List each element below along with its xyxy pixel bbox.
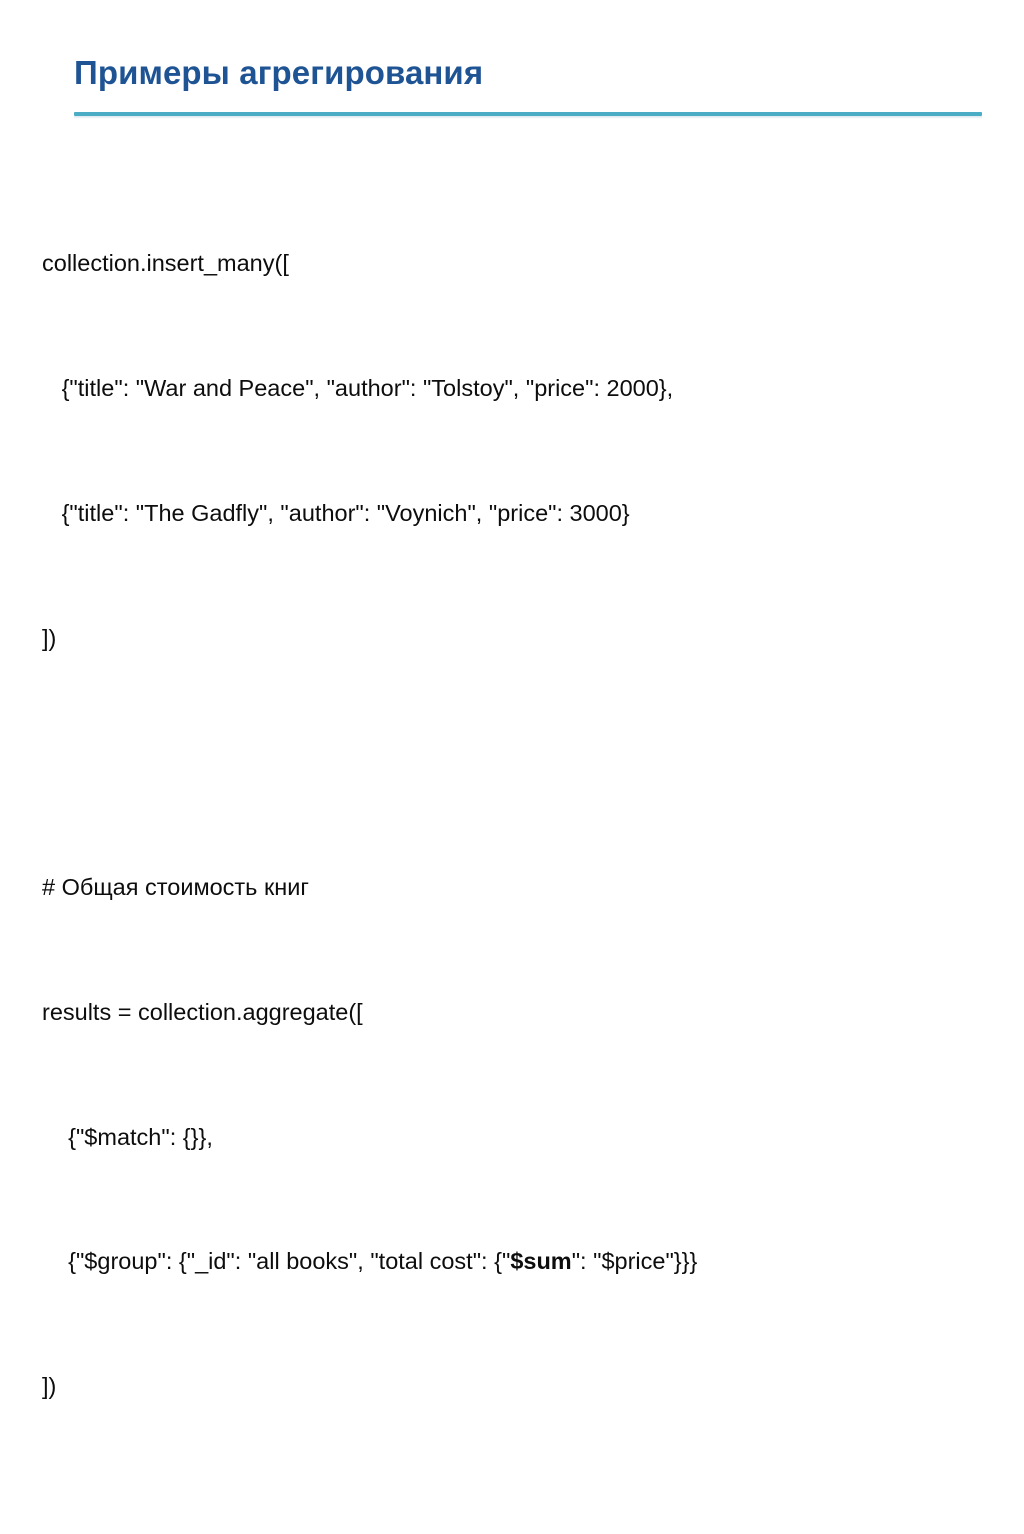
code-line-aggregate: results = collection.aggregate([ (42, 992, 1002, 1034)
code-line-insert-many: collection.insert_many([ (42, 243, 1002, 285)
slide: Примеры агрегирования collection.insert_… (0, 0, 1024, 767)
code-line-close-aggregate: ]) (42, 1366, 1002, 1408)
code-line-doc-the-gadfly: {"title": "The Gadfly", "author": "Voyni… (42, 493, 1002, 535)
page-title: Примеры агрегирования (74, 54, 483, 92)
code-line-doc-war-and-peace: {"title": "War and Peace", "author": "To… (42, 368, 1002, 410)
group-stage-prefix: {"$group": {"_id": "all books", "total c… (42, 1248, 510, 1274)
code-line-comment-total-cost: # Общая стоимость книг (42, 867, 1002, 909)
code-line-blank-2 (42, 1491, 1002, 1533)
code-line-blank-1 (42, 742, 1002, 784)
code-line-match-stage: {"$match": {}}, (42, 1117, 1002, 1159)
code-line-close-insert: ]) (42, 618, 1002, 660)
group-stage-sum-operator: $sum (510, 1248, 571, 1274)
group-stage-suffix: ": "$price"}}} (572, 1248, 698, 1274)
title-divider-shadow (74, 116, 982, 119)
code-line-group-stage: {"$group": {"_id": "all books", "total c… (42, 1241, 1002, 1283)
code-block: collection.insert_many([ {"title": "War … (42, 160, 1002, 1534)
